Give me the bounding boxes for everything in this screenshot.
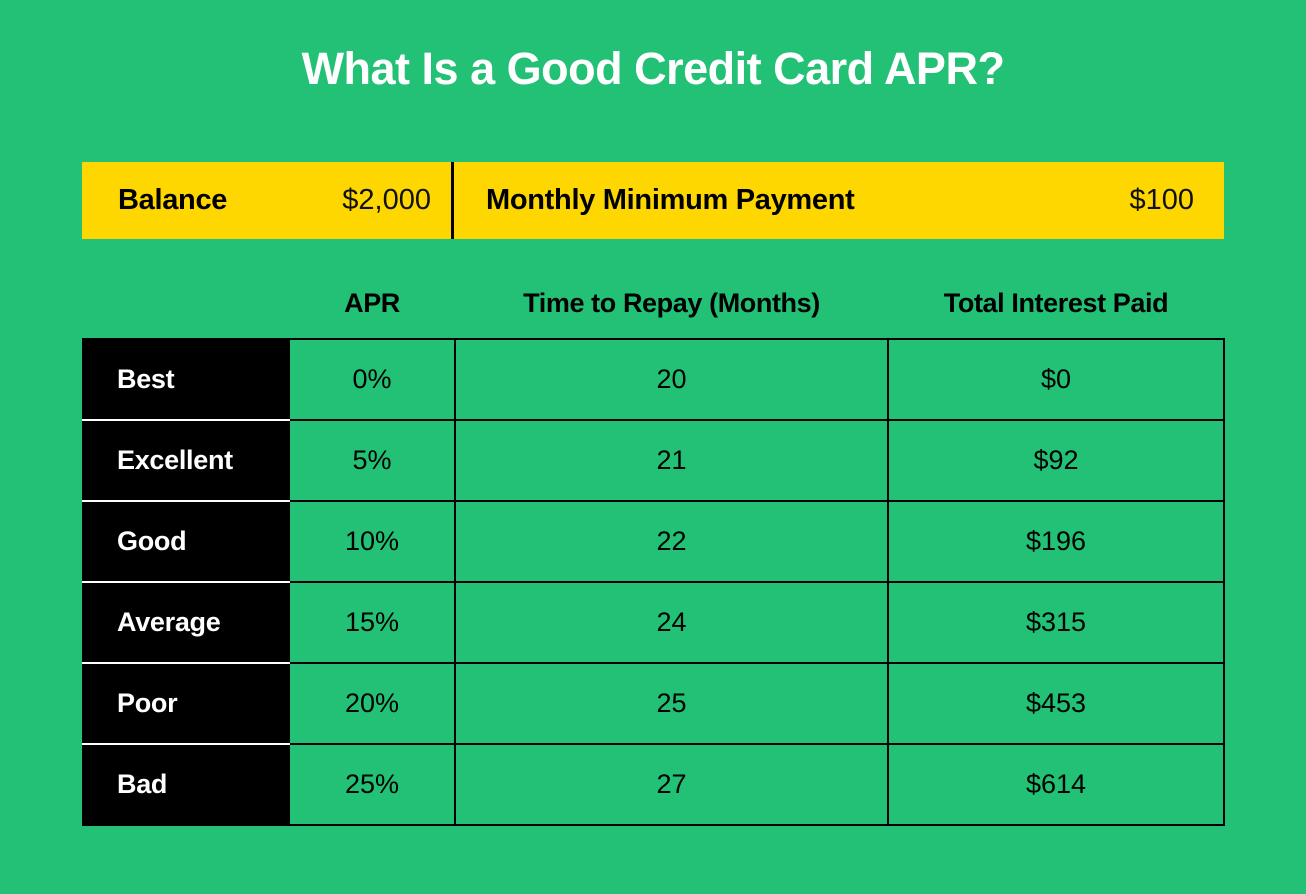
cell-time: 24 — [455, 582, 888, 663]
minimum-payment-label: Monthly Minimum Payment — [486, 184, 855, 217]
cell-apr: 5% — [289, 420, 455, 501]
column-header-total-interest: Total Interest Paid — [888, 281, 1224, 326]
cell-time: 21 — [455, 420, 888, 501]
column-header-apr: APR — [289, 281, 455, 326]
cell-apr: 25% — [289, 744, 455, 825]
apr-comparison-table: Best 0% 20 $0 Excellent 5% 21 $92 Good 1… — [82, 338, 1225, 826]
cell-rating: Poor — [82, 663, 289, 744]
cell-apr: 20% — [289, 663, 455, 744]
infographic-canvas: What Is a Good Credit Card APR? Balance … — [0, 0, 1306, 894]
column-header-time-to-repay: Time to Repay (Months) — [455, 281, 888, 326]
table-row: Best 0% 20 $0 — [82, 339, 1224, 420]
table-row: Bad 25% 27 $614 — [82, 744, 1224, 825]
cell-apr: 0% — [289, 339, 455, 420]
cell-rating: Excellent — [82, 420, 289, 501]
cell-apr: 15% — [289, 582, 455, 663]
table-row: Good 10% 22 $196 — [82, 501, 1224, 582]
table-body: Best 0% 20 $0 Excellent 5% 21 $92 Good 1… — [82, 339, 1224, 825]
assumptions-banner: Balance $2,000 Monthly Minimum Payment $… — [82, 162, 1224, 239]
cell-time: 22 — [455, 501, 888, 582]
cell-time: 20 — [455, 339, 888, 420]
cell-total: $315 — [888, 582, 1224, 663]
minimum-payment-cell: Monthly Minimum Payment $100 — [454, 162, 1224, 239]
page-title: What Is a Good Credit Card APR? — [0, 44, 1306, 94]
cell-time: 27 — [455, 744, 888, 825]
rating-header-spacer — [82, 281, 289, 326]
table-row: Excellent 5% 21 $92 — [82, 420, 1224, 501]
cell-rating: Best — [82, 339, 289, 420]
cell-rating: Bad — [82, 744, 289, 825]
cell-total: $92 — [888, 420, 1224, 501]
cell-rating: Good — [82, 501, 289, 582]
balance-value: $2,000 — [342, 184, 431, 217]
balance-cell: Balance $2,000 — [82, 162, 454, 239]
table-column-headers: APR Time to Repay (Months) Total Interes… — [82, 281, 1224, 326]
cell-total: $453 — [888, 663, 1224, 744]
cell-total: $614 — [888, 744, 1224, 825]
cell-apr: 10% — [289, 501, 455, 582]
balance-label: Balance — [118, 184, 227, 217]
cell-rating: Average — [82, 582, 289, 663]
table-row: Poor 20% 25 $453 — [82, 663, 1224, 744]
table-row: Average 15% 24 $315 — [82, 582, 1224, 663]
cell-time: 25 — [455, 663, 888, 744]
minimum-payment-value: $100 — [1129, 184, 1194, 217]
cell-total: $0 — [888, 339, 1224, 420]
cell-total: $196 — [888, 501, 1224, 582]
